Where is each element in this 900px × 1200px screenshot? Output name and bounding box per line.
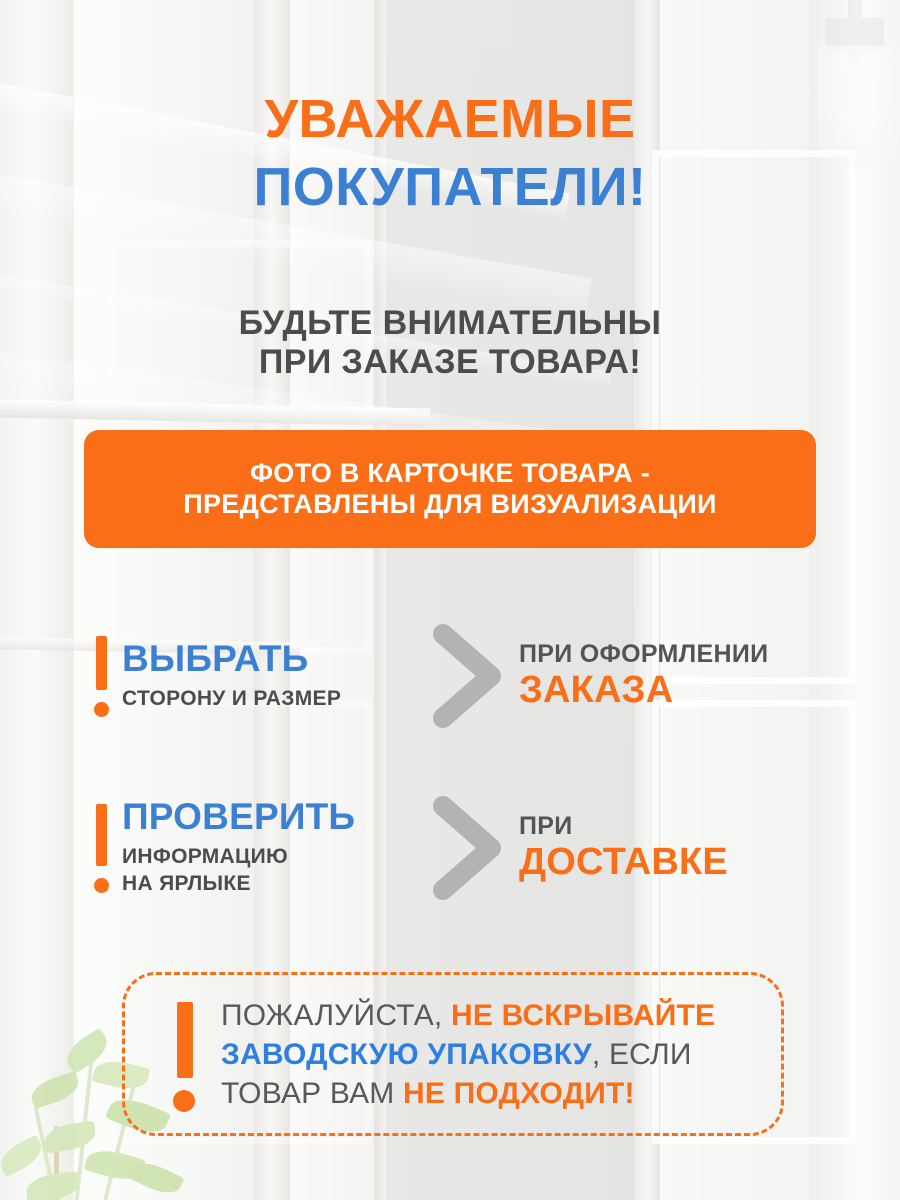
step-1-when: ПРИ ОФОРМЛЕНИИ ЗАКАЗА	[519, 641, 822, 711]
step-2-detail-line-2: НА ЯРЛЫКЕ	[122, 871, 427, 898]
notice-line-1: ПОЖАЛУЙСТА, НЕ ВСКРЫВАЙТЕ	[221, 996, 763, 1035]
notice-line-3-emphasis: НЕ ПОДХОДИТ!	[403, 1077, 635, 1110]
promo-poster: УВАЖАЕМЫЕ ПОКУПАТЕЛИ! БУДЬТЕ ВНИМАТЕЛЬНЫ…	[0, 0, 900, 1200]
subheading: БУДЬТЕ ВНИМАТЕЛЬНЫ ПРИ ЗАКАЗЕ ТОВАРА!	[0, 304, 900, 383]
banner-line-2: ПРЕДСТАВЛЕНЫ ДЛЯ ВИЗУАЛИЗАЦИИ	[183, 489, 716, 520]
step-2-when-bottom: ДОСТАВКЕ	[519, 843, 822, 883]
step-2-action-label: ПРОВЕРИТЬ	[122, 798, 427, 835]
step-2-when-top: ПРИ	[519, 813, 822, 839]
notice-line-1-emphasis: НЕ ВСКРЫВАЙТЕ	[451, 999, 715, 1032]
step-1-action-label: ВЫБРАТЬ	[122, 640, 427, 677]
notice-line-3: ТОВАР ВАМ НЕ ПОДХОДИТ!	[221, 1074, 763, 1113]
step-1-detail-line-1: СТОРОНУ И РАЗМЕР	[122, 686, 427, 713]
notice-line-1-plain: ПОЖАЛУЙСТА,	[221, 999, 451, 1032]
step-1-when-top: ПРИ ОФОРМЛЕНИИ	[519, 641, 822, 667]
poster-content: УВАЖАЕМЫЕ ПОКУПАТЕЛИ! БУДЬТЕ ВНИМАТЕЛЬНЫ…	[0, 0, 900, 1200]
step-2-when: ПРИ ДОСТАВКЕ	[519, 813, 822, 883]
step-2-detail: ИНФОРМАЦИЮ НА ЯРЛЫКЕ	[122, 844, 427, 898]
exclamation-mark-icon	[92, 628, 118, 724]
banner-line-1: ФОТО В КАРТОЧКЕ ТОВАРА -	[250, 458, 650, 489]
step-2-detail-line-1: ИНФОРМАЦИЮ	[122, 844, 427, 871]
notice-line-2: ЗАВОДСКУЮ УПАКОВКУ, ЕСЛИ	[221, 1035, 763, 1074]
subheading-line-1: БУДЬТЕ ВНИМАТЕЛЬНЫ	[0, 304, 900, 343]
photo-disclaimer-banner: ФОТО В КАРТОЧКЕ ТОВАРА - ПРЕДСТАВЛЕНЫ ДЛ…	[84, 430, 816, 548]
packaging-notice-text: ПОЖАЛУЙСТА, НЕ ВСКРЫВАЙТЕ ЗАВОДСКУЮ УПАК…	[221, 996, 781, 1113]
step-row-2: ПРОВЕРИТЬ ИНФОРМАЦИЮ НА ЯРЛЫКЕ ПРИ ДОСТА…	[92, 790, 822, 906]
step-row-1: ВЫБРАТЬ СТОРОНУ И РАЗМЕР ПРИ ОФОРМЛЕНИИ …	[92, 620, 822, 732]
subheading-line-2: ПРИ ЗАКАЗЕ ТОВАРА!	[0, 343, 900, 382]
step-1-detail: СТОРОНУ И РАЗМЕР	[122, 686, 427, 713]
notice-line-2-emphasis: ЗАВОДСКУЮ УПАКОВКУ	[221, 1038, 592, 1071]
page-title: УВАЖАЕМЫЕ ПОКУПАТЕЛИ!	[0, 92, 900, 214]
notice-line-2-plain: , ЕСЛИ	[592, 1038, 692, 1071]
step-1-action: ВЫБРАТЬ СТОРОНУ И РАЗМЕР	[122, 640, 427, 713]
headline-line-1: УВАЖАЕМЫЕ	[0, 92, 900, 146]
packaging-notice-box: ПОЖАЛУЙСТА, НЕ ВСКРЫВАЙТЕ ЗАВОДСКУЮ УПАК…	[122, 972, 784, 1136]
exclamation-mark-icon	[171, 994, 205, 1114]
notice-line-3-plain: ТОВАР ВАМ	[221, 1077, 403, 1110]
exclamation-mark-icon	[92, 790, 118, 906]
step-1-when-bottom: ЗАКАЗА	[519, 671, 822, 711]
headline-line-2: ПОКУПАТЕЛИ!	[0, 160, 900, 214]
chevron-right-icon	[427, 792, 513, 904]
chevron-right-icon	[427, 620, 513, 732]
step-2-action: ПРОВЕРИТЬ ИНФОРМАЦИЮ НА ЯРЛЫКЕ	[122, 798, 427, 898]
